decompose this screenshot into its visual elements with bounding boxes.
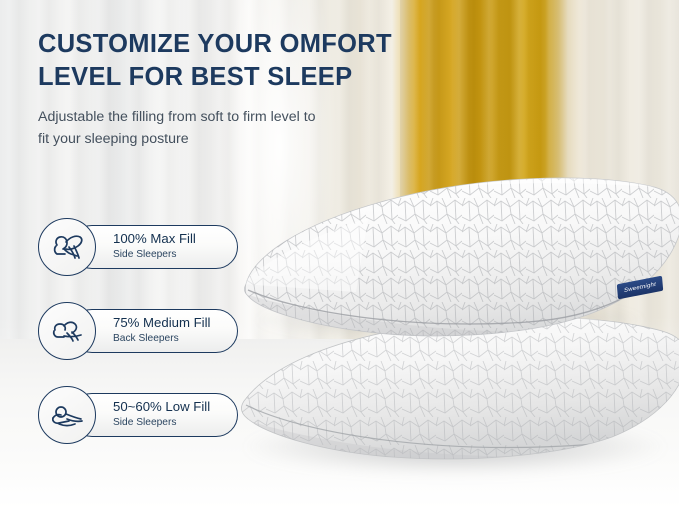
pillow-stack: Sweetnight <box>180 150 679 500</box>
subheading: Adjustable the filling from soft to firm… <box>38 107 418 150</box>
badge-low-fill-subtitle: Side Sleepers <box>113 417 237 430</box>
badge-max-fill-subtitle: Side Sleepers <box>113 249 237 262</box>
subheading-line-2: fit your sleeping posture <box>38 129 418 151</box>
fill-level-badge-list: 100% Max Fill Side Sleepers <box>38 218 238 470</box>
badge-low-fill-title: 50~60% Low Fill <box>113 400 237 415</box>
subheading-line-1: Adjustable the filling from soft to firm… <box>38 107 418 129</box>
side-sleeper-high-pillow-icon <box>38 218 96 276</box>
headline-line-1: CUSTOMIZE YOUR OMFORT <box>38 28 418 61</box>
badge-max-fill-title: 100% Max Fill <box>113 232 237 247</box>
badge-low-fill: 50~60% Low Fill Side Sleepers <box>38 386 238 444</box>
brand-tag-text: Sweetnight <box>624 281 657 294</box>
badge-medium-fill: 75% Medium Fill Back Sleepers <box>38 302 238 360</box>
page-title: CUSTOMIZE YOUR OMFORT LEVEL FOR BEST SLE… <box>38 28 418 93</box>
badge-medium-fill-title: 75% Medium Fill <box>113 316 237 331</box>
headline-line-2: LEVEL FOR BEST SLEEP <box>38 61 418 94</box>
badge-medium-fill-subtitle: Back Sleepers <box>113 333 237 346</box>
copy-block: CUSTOMIZE YOUR OMFORT LEVEL FOR BEST SLE… <box>38 28 418 150</box>
badge-max-fill: 100% Max Fill Side Sleepers <box>38 218 238 276</box>
back-sleeper-medium-pillow-icon <box>38 302 96 360</box>
side-sleeper-low-pillow-icon <box>38 386 96 444</box>
top-pillow <box>238 172 679 352</box>
product-infographic: Sweetnight CUSTOMIZE YOUR OMFORT LEVEL F… <box>0 0 679 509</box>
